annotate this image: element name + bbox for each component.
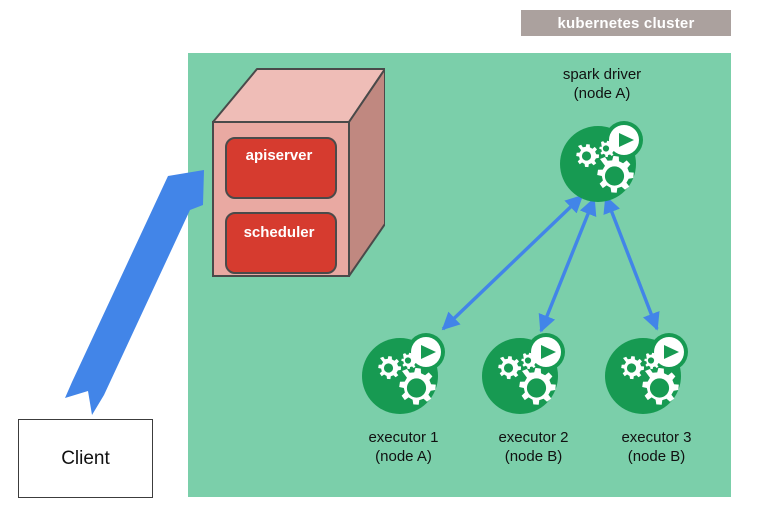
spark-submit-arrow — [55, 160, 235, 420]
scheduler-box — [226, 213, 336, 273]
client-box[interactable]: Client — [18, 419, 153, 498]
diagram-canvas: kubernetes cluster apiserver scheduler s… — [0, 0, 761, 516]
spark-submit-arrow-shape — [65, 170, 204, 415]
kubernetes-cluster-banner-label: kubernetes cluster — [558, 15, 695, 32]
client-label: Client — [61, 448, 110, 470]
kubernetes-cluster-banner: kubernetes cluster — [521, 10, 731, 36]
apiserver-box — [226, 138, 336, 198]
